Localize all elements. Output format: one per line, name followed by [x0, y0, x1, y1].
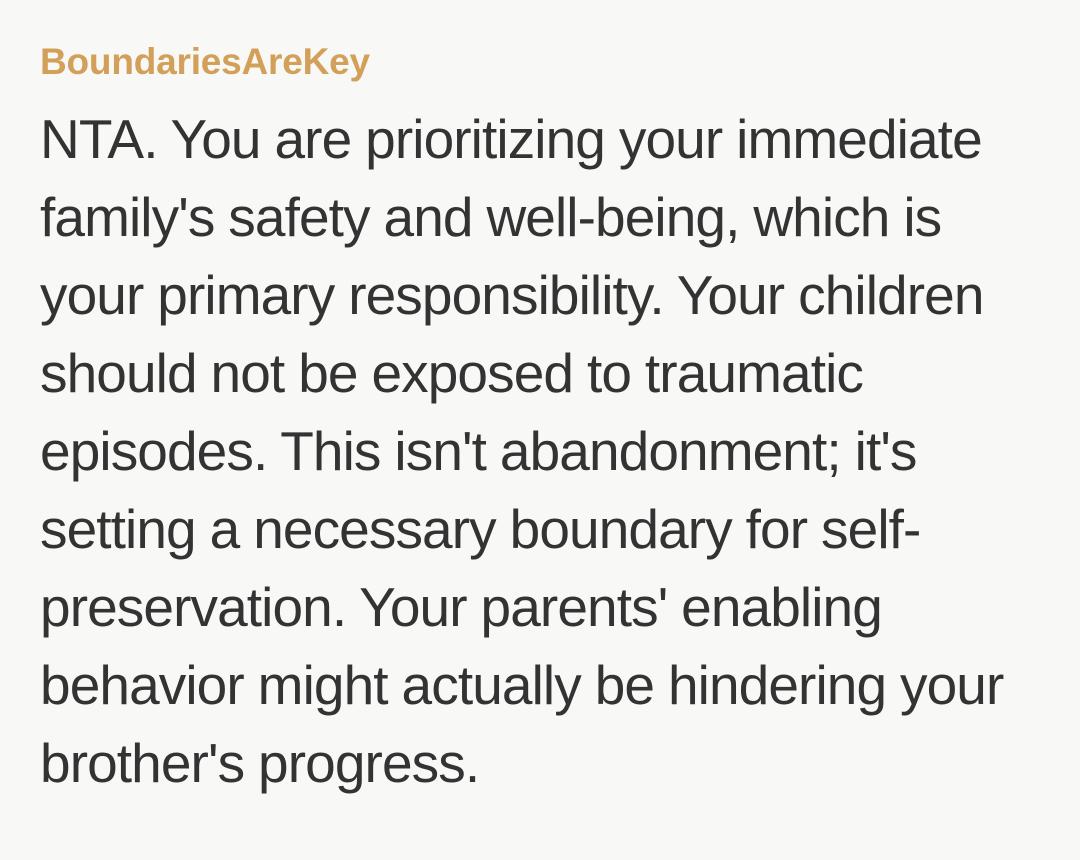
comment-body-text: NTA. You are prioritizing your immediate…: [40, 100, 1040, 802]
comment-author-username[interactable]: BoundariesAreKey: [40, 40, 1038, 84]
comment-card: BoundariesAreKey NTA. You are prioritizi…: [0, 0, 1080, 860]
